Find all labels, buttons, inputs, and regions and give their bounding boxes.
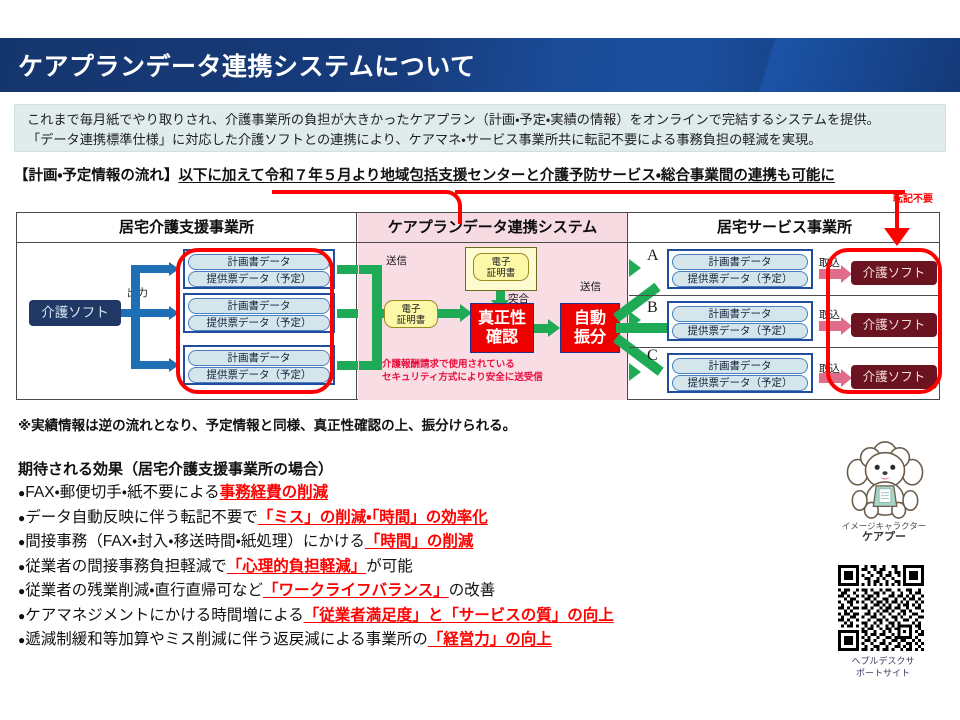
authenticity-line-1: 真正性 <box>478 310 526 327</box>
item-text-plain: ケアマネジメントにかける時間増による <box>25 607 304 624</box>
no-transcription-label: 転記不要 <box>893 190 933 205</box>
doc-line-schedule: 提供票データ（予定） <box>672 271 808 287</box>
item-text-tail: の改善 <box>449 582 496 599</box>
office-row-label-b: B <box>647 299 658 317</box>
item-text-highlight: 「従業者満足度」と「サービスの質」の向上 <box>304 607 614 624</box>
slide-root: ケアプランデータ連携システムについて これまで毎月紙でやり取りされ、介護事業所の… <box>0 0 960 720</box>
green-arrowhead-office-a <box>629 259 641 277</box>
qr-code-icon[interactable] <box>838 565 924 651</box>
no-transcription-connector-left <box>272 190 462 224</box>
list-item: ●データ自動反映に伴う転記不要で「ミス」の削減・「時間」の効率化 <box>18 506 808 531</box>
auto-routing-box: 自動 振分 <box>560 303 620 353</box>
item-text-plain: 従業者の間接事務負担軽減で <box>25 558 227 575</box>
poodle-dog-icon <box>836 440 934 520</box>
mascot-caption-label: イメージキャラクター <box>842 521 927 531</box>
auto-route-line-1: 自動 <box>574 310 606 327</box>
doc-line-plan: 計画書データ <box>672 358 808 374</box>
mascot-caption: イメージキャラクター ケアプー <box>818 521 950 543</box>
auto-route-line-2: 振分 <box>574 329 606 346</box>
doc-line-plan: 計画書データ <box>672 306 808 322</box>
authenticity-line-2: 確認 <box>486 329 518 346</box>
cert-line-2: 証明書 <box>487 268 516 279</box>
send-label-inbound: 送信 <box>386 253 407 268</box>
document-card: 計画書データ 提供票データ（予定） <box>667 249 813 289</box>
item-text-highlight: 「ミス」の削減・「時間」の効率化 <box>258 509 488 526</box>
blue-branch-top <box>131 265 171 273</box>
item-text-highlight: 「時間」の削減 <box>365 533 474 550</box>
cert-line-1: 電子 <box>401 304 420 315</box>
list-item: ●ケアマネジメントにかける時間増による「従業者満足度」と「サービスの質」の向上 <box>18 604 808 629</box>
green-cert-to-auth <box>438 309 462 318</box>
qr-caption: ヘプルデスクサ ポートサイト <box>820 655 946 679</box>
page-title: ケアプランデータ連携システムについて <box>18 50 718 84</box>
doc-line-schedule: 提供票データ（予定） <box>672 375 808 391</box>
flow-diagram: 居宅介護支援事業所 ケアプランデータ連携システム 居宅サービス事業所 介護ソフト… <box>16 212 940 400</box>
green-exit-bottom <box>337 361 359 370</box>
mascot-eye-right <box>890 465 895 470</box>
effects-heading: 期待される効果（居宅介護支援事業所の場合） <box>18 458 333 479</box>
highlight-oval-source-documents <box>176 248 334 394</box>
mascot-name: ケアプー <box>862 531 906 543</box>
no-transcription-connector-bar <box>455 190 905 194</box>
section-heading-bracket: 【計画・予定情報の流れ】 <box>14 168 178 184</box>
item-text-highlight: 「ワークライフバランス」 <box>263 582 449 599</box>
intro-line-1: これまで毎月紙でやり取りされ、介護事業所の負担が大きかったケアプラン（計画・予定… <box>27 110 935 130</box>
item-text-plain: FAX・郵便切手・紙不要による <box>25 484 219 501</box>
list-item: ●従業者の間接事務負担軽減で「心理的負担軽減」が可能 <box>18 555 808 580</box>
qr-caption-line-2: ポートサイト <box>856 668 910 678</box>
item-text-tail: が可能 <box>366 558 413 575</box>
item-text-plain: 従業者の残業削減・直行直帰可など <box>25 582 263 599</box>
qr-caption-line-1: ヘプルデスクサ <box>851 656 914 666</box>
section-heading-underlined: 以下に加えて令和７年５月より地域包括支援センターと介護予防サービス・総合事業間の… <box>178 168 834 184</box>
qr-code[interactable] <box>838 565 924 651</box>
office-row-label-c: C <box>647 347 658 365</box>
document-card: 計画書データ 提供票データ（予定） <box>667 353 813 393</box>
item-text-highlight: 「心理的負担軽減」 <box>227 558 367 575</box>
office-row-label-a: A <box>647 247 659 265</box>
document-card: 計画書データ 提供票データ（予定） <box>667 301 813 341</box>
mascot-illustration <box>836 440 934 520</box>
security-note-line-1: 介護報酬請求で使用されている <box>382 359 515 370</box>
intro-line-2: 「データ連携標準仕様」に対応した介護ソフトとの連携により、ケアマネ・サービス事業… <box>27 130 935 150</box>
security-note: 介護報酬請求で使用されている セキュリティ方式により安全に送受信 <box>382 359 543 384</box>
diagram-header-row: 居宅介護支援事業所 ケアプランデータ連携システム 居宅サービス事業所 <box>17 213 939 243</box>
send-label-outbound: 送信 <box>580 279 601 294</box>
green-arrowhead-to-route <box>548 319 560 337</box>
diagram-body-row: 介護ソフト 出力 計画書データ 提供票データ（予定） 計画書データ <box>17 243 939 400</box>
blue-branch-bottom <box>131 361 171 369</box>
diagram-note: ※実績情報は逆の流れとなり、予定情報と同様、真正性確認の上、振分けられる。 <box>18 414 516 434</box>
electronic-certificate-inbound: 電子 証明書 <box>384 300 438 328</box>
green-arrowhead-office-b <box>629 311 641 329</box>
mascot-nose <box>882 471 887 475</box>
list-item: ●間接事務（FAX・封入・移送時間・紙処理）にかける「時間」の削減 <box>18 530 808 555</box>
electronic-certificate-top: 電子 証明書 <box>473 253 529 281</box>
security-note-line-2: セキュリティ方式により安全に送受信 <box>382 372 543 383</box>
no-transcription-arrowhead <box>884 228 910 246</box>
care-software-source-box: 介護ソフト <box>29 300 121 326</box>
item-text-plain: 間接事務（FAX・封入・移送時間・紙処理）にかける <box>25 533 365 550</box>
blue-connector-trunk <box>131 265 140 369</box>
intro-box: これまで毎月紙でやり取りされ、介護事業所の負担が大きかったケアプラン（計画・予定… <box>14 104 946 152</box>
cert-line-2: 証明書 <box>397 315 426 326</box>
section-heading: 【計画・予定情報の流れ】以下に加えて令和７年５月より地域包括支援センターと介護予… <box>14 164 835 185</box>
item-text-plain: 遞減制緩和等加算やミス削減に伴う返戻減による事業所の <box>25 631 428 648</box>
list-item: ●遞減制緩和等加算やミス削減に伴う返戻減による事業所の「経営力」の向上 <box>18 628 808 653</box>
list-item: ●FAX・郵便切手・紙不要による事務経費の削減 <box>18 481 808 506</box>
item-text-plain: データ自動反映に伴う転記不要で <box>25 509 258 526</box>
list-item: ●従業者の残業削減・直行直帰可など「ワークライフバランス」の改善 <box>18 579 808 604</box>
zone-careplan-data-system: 送信 電子 証明書 電子 証明書 突合 真正 <box>358 243 628 400</box>
authenticity-check-box: 真正性 確認 <box>470 303 534 353</box>
effects-list: ●FAX・郵便切手・紙不要による事務経費の削減 ●データ自動反映に伴う転記不要で… <box>18 481 808 653</box>
doc-line-plan: 計画書データ <box>672 254 808 270</box>
green-exit-top <box>337 265 359 274</box>
blue-branch-middle <box>131 309 171 317</box>
green-arrowhead-office-c <box>629 363 641 381</box>
item-text-highlight: 事務経費の削減 <box>220 484 329 501</box>
green-exit-middle <box>337 309 359 318</box>
cert-line-1: 電子 <box>491 257 510 268</box>
item-text-highlight: 「経営力」の向上 <box>428 631 552 648</box>
mascot-eye-left <box>875 465 880 470</box>
highlight-oval-target-software <box>826 248 942 394</box>
doc-line-schedule: 提供票データ（予定） <box>672 323 808 339</box>
